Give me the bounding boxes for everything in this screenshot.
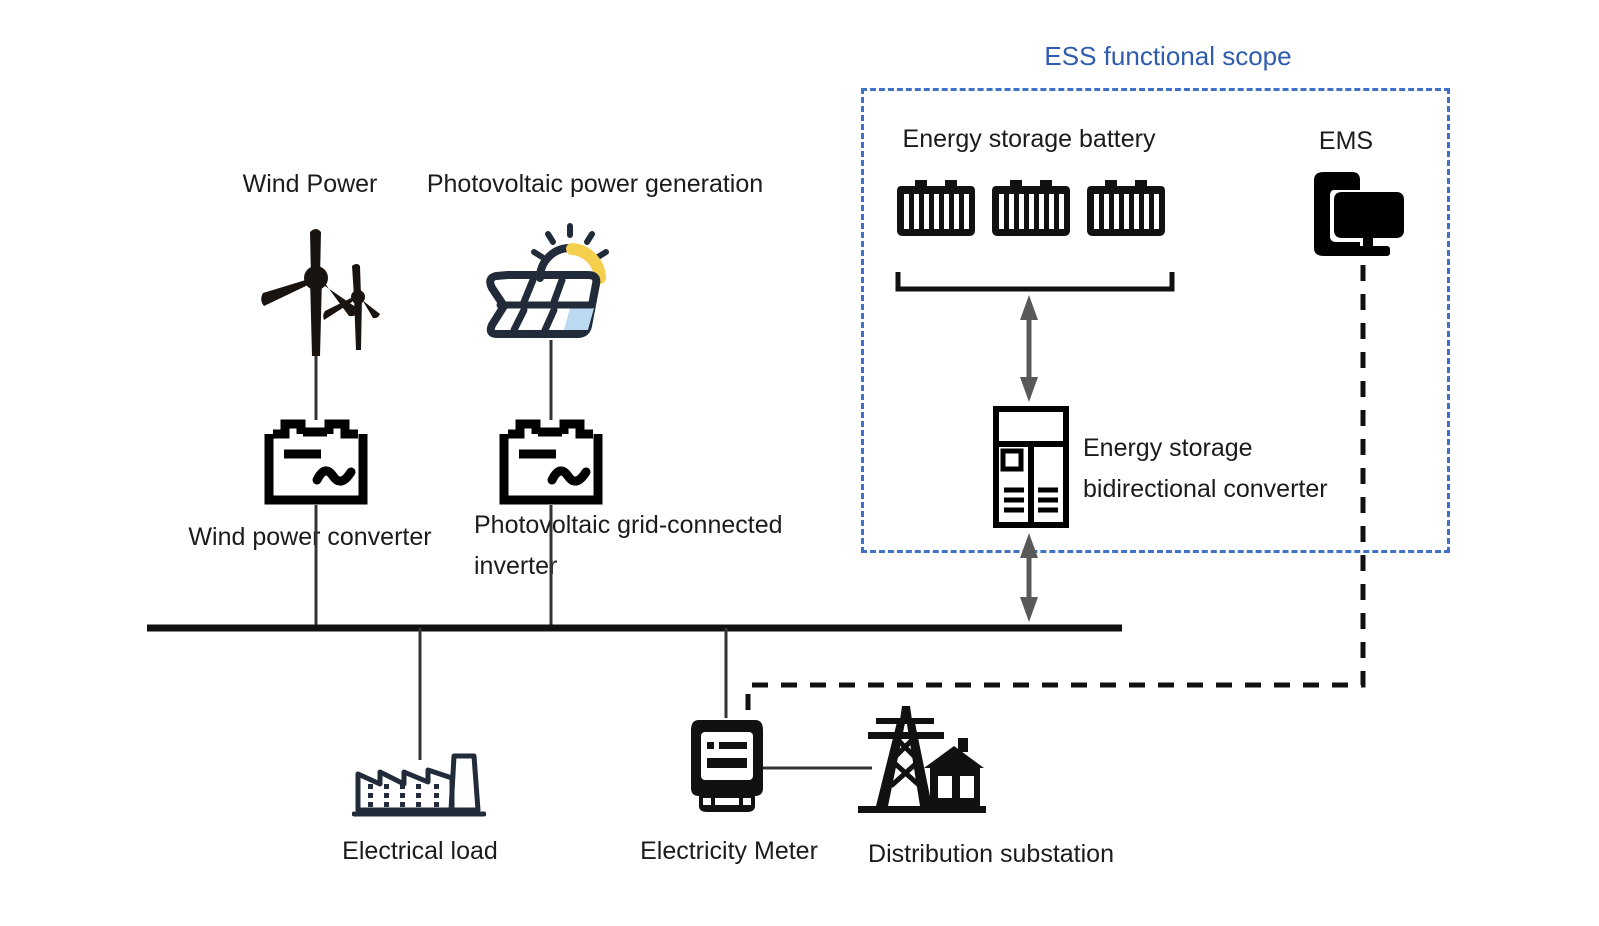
wind-power-label: Wind Power — [243, 165, 378, 204]
electricity-meter-label: Electricity Meter — [640, 832, 818, 871]
pylon-house-icon — [858, 706, 986, 814]
inverter-icon-pv — [494, 418, 608, 508]
inverter-icon-wind — [259, 418, 373, 508]
solar-panel-icon — [478, 218, 614, 342]
computer-server-icon — [1308, 170, 1412, 264]
wind-converter-label: Wind power converter — [188, 518, 431, 557]
pv-inverter-label-line2: inverter — [474, 547, 557, 586]
distribution-substation-label: Distribution substation — [868, 835, 1114, 874]
converter-label-line2: bidirectional converter — [1083, 470, 1328, 509]
converter-label-line1: Energy storage — [1083, 429, 1253, 468]
electricity-meter-icon — [689, 718, 765, 814]
ess-scope-title: ESS functional scope — [1044, 41, 1291, 72]
energy-storage-battery-label: Energy storage battery — [903, 120, 1156, 159]
diagram-canvas: ESS functional scope Wind Power Photovol… — [0, 0, 1599, 926]
pv-generation-label: Photovoltaic power generation — [427, 165, 763, 204]
ems-label: EMS — [1319, 122, 1373, 161]
pv-inverter-label-line1: Photovoltaic grid-connected — [474, 506, 783, 545]
electrical-load-label: Electrical load — [342, 832, 498, 871]
wind-turbine-icon — [248, 222, 384, 358]
battery-icon-1 — [893, 178, 979, 240]
factory-icon — [352, 748, 486, 818]
battery-icon-3 — [1083, 178, 1169, 240]
battery-icon-2 — [988, 178, 1074, 240]
converter-cabinet-icon — [993, 406, 1069, 528]
